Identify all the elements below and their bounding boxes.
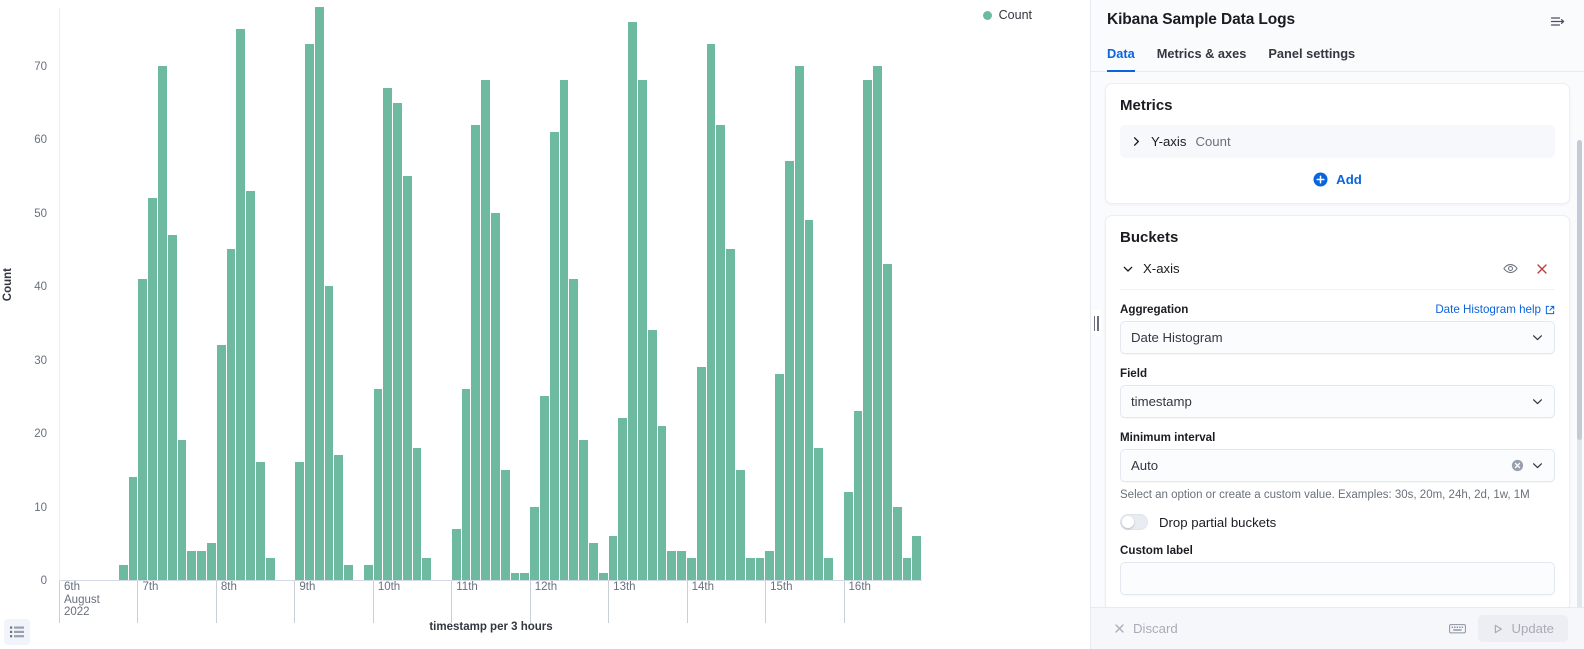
editor-tabs: DataMetrics & axesPanel settings: [1091, 42, 1584, 72]
bar[interactable]: [579, 440, 589, 580]
clear-circle-icon[interactable]: [1511, 459, 1524, 472]
bar[interactable]: [638, 80, 648, 580]
y-axis-tick-label: 50: [34, 208, 47, 220]
bucket-header-label: X-axis: [1143, 261, 1490, 276]
y-axis-tick-label: 10: [34, 502, 47, 514]
bar[interactable]: [178, 440, 188, 580]
bar[interactable]: [187, 551, 197, 580]
x-axis-tick-label: 15th: [765, 581, 792, 623]
chart-legend[interactable]: Count: [983, 8, 1032, 22]
list-view-icon[interactable]: [4, 619, 30, 645]
update-button-label: Update: [1511, 621, 1554, 636]
add-metric-button[interactable]: Add: [1120, 171, 1555, 188]
bar[interactable]: [138, 279, 148, 580]
bar[interactable]: [903, 558, 913, 580]
bar[interactable]: [883, 264, 893, 580]
x-axis-tick-label: 14th: [687, 581, 714, 623]
editor-header: Kibana Sample Data Logs: [1091, 0, 1584, 32]
bar[interactable]: [658, 426, 668, 580]
close-x-icon: [1113, 622, 1126, 635]
x-axis-title: timestamp per 3 hours: [59, 621, 923, 633]
bar[interactable]: [599, 573, 609, 580]
bar[interactable]: [687, 558, 697, 580]
bar[interactable]: [746, 558, 756, 580]
field-select[interactable]: timestamp: [1120, 385, 1555, 418]
bar[interactable]: [217, 345, 227, 580]
plus-circle-icon: [1313, 172, 1328, 187]
legend-color-swatch: [983, 11, 992, 20]
metric-row-value: Count: [1195, 134, 1230, 149]
editor-panel: Kibana Sample Data Logs DataMetrics & ax…: [1090, 0, 1584, 649]
bar[interactable]: [481, 80, 491, 580]
bar[interactable]: [785, 161, 795, 580]
bar[interactable]: [403, 176, 413, 580]
bar[interactable]: [814, 448, 824, 580]
bar[interactable]: [168, 235, 178, 580]
bar[interactable]: [667, 551, 677, 580]
y-axis-tick-label: 20: [34, 428, 47, 440]
bar[interactable]: [227, 249, 237, 580]
field-label-row: Field: [1120, 367, 1555, 380]
bar[interactable]: [550, 132, 560, 580]
metrics-card-title: Metrics: [1120, 97, 1555, 114]
x-axis-tick-label: 9th: [294, 581, 315, 623]
discard-button-label: Discard: [1133, 621, 1178, 636]
bar[interactable]: [893, 507, 903, 580]
bar[interactable]: [344, 565, 354, 580]
bar[interactable]: [520, 573, 530, 580]
aggregation-select[interactable]: Date Histogram: [1120, 321, 1555, 354]
external-link-icon: [1545, 305, 1555, 315]
bar[interactable]: [511, 573, 521, 580]
bar[interactable]: [707, 44, 717, 580]
bar[interactable]: [364, 565, 374, 580]
bar[interactable]: [452, 529, 462, 580]
bar[interactable]: [422, 558, 432, 580]
date-histogram-help-link[interactable]: Date Histogram help: [1435, 303, 1555, 316]
aggregation-value: Date Histogram: [1131, 330, 1531, 345]
y-axis-tick-label: 0: [41, 575, 47, 587]
chevron-down-icon: [1531, 459, 1544, 472]
x-axis-tick-label: 12th: [530, 581, 557, 623]
discard-button[interactable]: Discard: [1107, 620, 1184, 637]
legend-label: Count: [999, 8, 1032, 22]
bar[interactable]: [530, 507, 540, 580]
bucket-header-x-axis: X-axis: [1120, 257, 1555, 290]
chart-pane: Count Count 010203040506070 6th August 2…: [0, 0, 1090, 649]
bar[interactable]: [795, 66, 805, 580]
drop-partial-buckets-label: Drop partial buckets: [1159, 515, 1276, 530]
bar[interactable]: [413, 448, 423, 580]
bar[interactable]: [560, 80, 570, 580]
help-link-label: Date Histogram help: [1435, 303, 1541, 316]
editor-scroll-region: Metrics Y-axis Count: [1091, 72, 1584, 607]
interval-label-row: Minimum interval: [1120, 431, 1555, 444]
bar[interactable]: [775, 374, 785, 580]
resize-grip-bar: [1097, 316, 1099, 331]
bar[interactable]: [824, 558, 834, 580]
bar[interactable]: [912, 536, 922, 580]
play-triangle-icon: [1492, 623, 1504, 635]
bar[interactable]: [305, 44, 315, 580]
y-axis-ticks: 010203040506070: [0, 0, 58, 649]
bar[interactable]: [491, 213, 501, 580]
bar[interactable]: [805, 220, 815, 580]
bar[interactable]: [158, 66, 168, 580]
x-axis-tick-label: 6th August 2022: [59, 581, 100, 623]
x-axis-tick-label: 13th: [608, 581, 635, 623]
chevron-down-icon: [1531, 331, 1544, 344]
minimum-interval-value: Auto: [1131, 458, 1511, 473]
aggregation-label: Aggregation: [1120, 303, 1188, 316]
drop-partial-buckets-row[interactable]: Drop partial buckets: [1120, 514, 1555, 530]
keyboard-shortcut-icon[interactable]: [1447, 620, 1468, 637]
custom-label-label: Custom label: [1120, 544, 1193, 557]
footer-actions: Update: [1447, 615, 1568, 642]
bar[interactable]: [256, 462, 266, 580]
bar[interactable]: [471, 125, 481, 580]
editor-footer: Discard: [1091, 607, 1584, 649]
kibana-visualize-editor: Count Count 010203040506070 6th August 2…: [0, 0, 1584, 649]
bar-series: [60, 8, 922, 580]
bar[interactable]: [873, 66, 883, 580]
bar[interactable]: [374, 389, 384, 580]
custom-label-row: Custom label: [1120, 544, 1555, 557]
editor-scrollbar[interactable]: [1577, 140, 1582, 607]
bar[interactable]: [726, 249, 736, 580]
bar[interactable]: [197, 551, 207, 580]
x-axis-tick-label: 10th: [373, 581, 400, 623]
chevron-down-icon: [1531, 395, 1544, 408]
bar[interactable]: [854, 411, 864, 580]
bar[interactable]: [697, 367, 707, 580]
buckets-card-title: Buckets: [1120, 229, 1555, 246]
bar[interactable]: [129, 477, 139, 580]
buckets-card: Buckets X-axis: [1105, 215, 1570, 607]
close-x-icon[interactable]: [1531, 260, 1553, 278]
y-axis-tick-label: 60: [34, 134, 47, 146]
field-label: Field: [1120, 367, 1147, 380]
bar[interactable]: [648, 330, 658, 580]
add-metric-label: Add: [1336, 172, 1362, 187]
bar[interactable]: [325, 286, 335, 580]
bar[interactable]: [765, 551, 775, 580]
bar[interactable]: [501, 470, 511, 580]
bar[interactable]: [236, 29, 246, 580]
resize-grip-bar: [1094, 316, 1096, 331]
eye-icon[interactable]: [1499, 259, 1522, 278]
bar[interactable]: [863, 80, 873, 580]
bar[interactable]: [756, 558, 766, 580]
x-axis-tick-label: 7th: [137, 581, 158, 623]
plot-area[interactable]: [59, 8, 922, 581]
bar[interactable]: [716, 125, 726, 580]
minimum-interval-combobox[interactable]: Auto: [1120, 449, 1555, 482]
collapse-panel-icon[interactable]: [1547, 11, 1568, 32]
x-axis-tick-label: 11th: [451, 581, 478, 623]
bar[interactable]: [148, 198, 158, 580]
bar[interactable]: [383, 88, 393, 580]
bar[interactable]: [736, 470, 746, 580]
bar[interactable]: [677, 551, 687, 580]
bar[interactable]: [628, 22, 638, 580]
bar[interactable]: [266, 558, 276, 580]
bar[interactable]: [462, 389, 472, 580]
metrics-card: Metrics Y-axis Count: [1105, 83, 1570, 204]
tab-metrics-axes[interactable]: Metrics & axes: [1157, 42, 1247, 72]
field-value: timestamp: [1131, 394, 1531, 409]
bar[interactable]: [334, 455, 344, 580]
bar[interactable]: [569, 279, 579, 580]
metric-row-label: Y-axis: [1151, 134, 1186, 149]
bar[interactable]: [119, 565, 129, 580]
y-axis-tick-label: 40: [34, 281, 47, 293]
page-title: Kibana Sample Data Logs: [1107, 11, 1295, 29]
scrollbar-thumb[interactable]: [1577, 140, 1582, 440]
minimum-interval-hint: Select an option or create a custom valu…: [1120, 488, 1555, 503]
tab-panel-settings[interactable]: Panel settings: [1268, 42, 1355, 72]
chevron-down-icon[interactable]: [1122, 263, 1134, 275]
bar[interactable]: [618, 418, 628, 580]
chevron-right-icon: [1131, 136, 1142, 147]
bar[interactable]: [246, 191, 256, 580]
bar[interactable]: [589, 543, 599, 580]
bar[interactable]: [609, 536, 619, 580]
minimum-interval-label: Minimum interval: [1120, 431, 1215, 444]
bar[interactable]: [295, 462, 305, 580]
bar[interactable]: [207, 543, 217, 580]
panel-resize-handle[interactable]: [1091, 310, 1101, 336]
bar[interactable]: [393, 103, 403, 581]
y-axis-tick-label: 70: [34, 61, 47, 73]
x-axis-tick-label: 16th: [844, 581, 871, 623]
drop-partial-buckets-toggle[interactable]: [1120, 514, 1148, 530]
aggregation-label-row: Aggregation Date Histogram help: [1120, 303, 1555, 316]
tab-data[interactable]: Data: [1107, 42, 1135, 72]
bar[interactable]: [844, 492, 854, 580]
x-axis-tick-label: 8th: [216, 581, 237, 623]
update-button[interactable]: Update: [1478, 615, 1568, 642]
bar[interactable]: [540, 396, 550, 580]
custom-label-input[interactable]: [1120, 562, 1555, 595]
metric-row-y-axis[interactable]: Y-axis Count: [1120, 125, 1555, 158]
bar[interactable]: [315, 7, 325, 580]
y-axis-tick-label: 30: [34, 355, 47, 367]
